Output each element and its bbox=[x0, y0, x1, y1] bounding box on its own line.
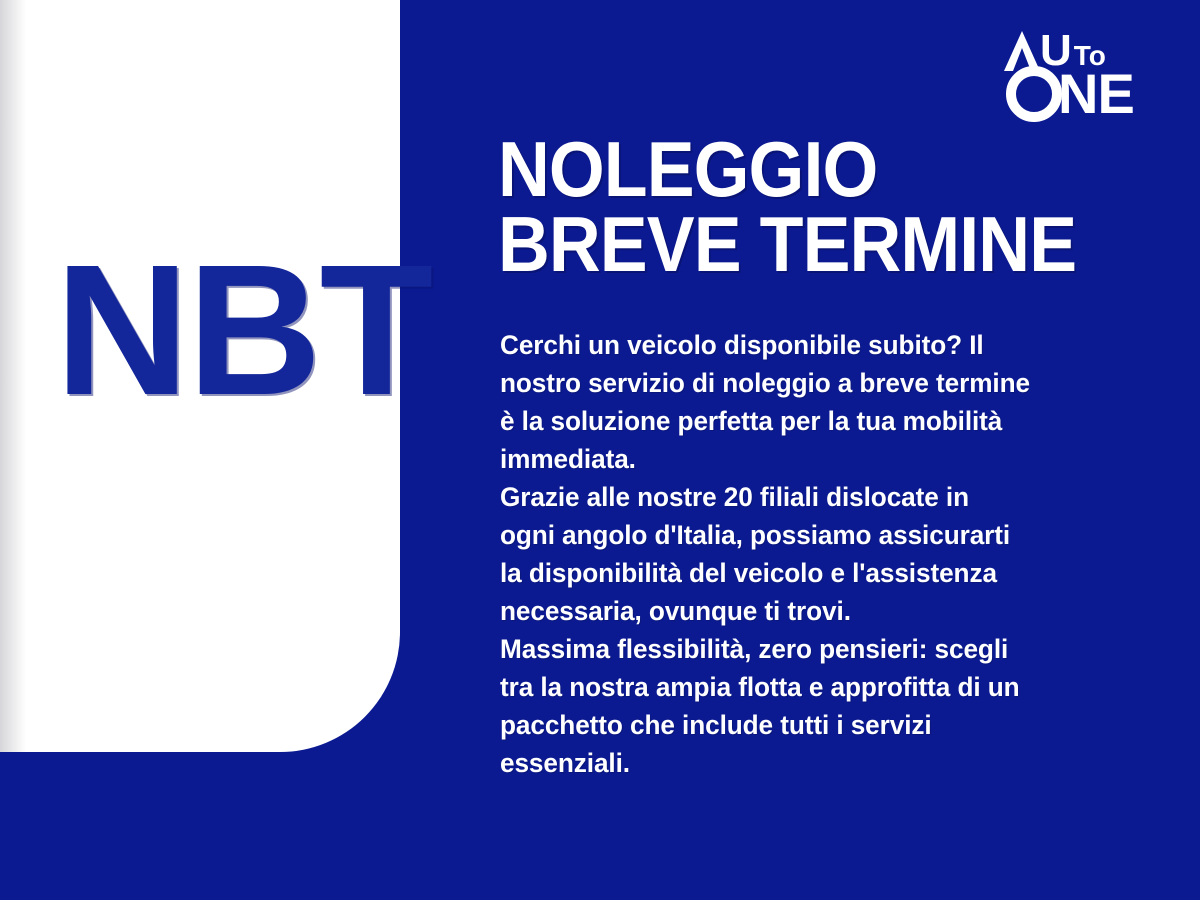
body-line: necessaria, ovunque ti trovi. bbox=[500, 592, 1121, 630]
body-line: Grazie alle nostre 20 filiali dislocate … bbox=[500, 478, 1121, 516]
body-line: ogni angolo d'Italia, possiamo assicurar… bbox=[500, 516, 1121, 554]
body-line: pacchetto che include tutti i servizi bbox=[500, 706, 1121, 744]
body-line: immediata. bbox=[500, 440, 1121, 478]
page-title: NOLEGGIO BREVE TERMINE bbox=[498, 132, 1105, 282]
body-line: la disponibilità del veicolo e l'assiste… bbox=[500, 554, 1121, 592]
body-paragraph-3: Massima flessibilità, zero pensieri: sce… bbox=[500, 630, 1121, 782]
body-paragraph-1: Cerchi un veicolo disponibile subito? Il… bbox=[500, 326, 1121, 478]
body-copy: Cerchi un veicolo disponibile subito? Il… bbox=[500, 326, 1121, 782]
nbt-acronym: NBT bbox=[55, 238, 355, 424]
panel-edge-shadow bbox=[0, 0, 26, 752]
headline-line-1: NOLEGGIO bbox=[498, 132, 1105, 207]
content-column: NOLEGGIO BREVE TERMINE Cerchi un veicolo… bbox=[498, 0, 1158, 900]
body-line: Massima flessibilità, zero pensieri: sce… bbox=[500, 630, 1121, 668]
body-line: Cerchi un veicolo disponibile subito? Il bbox=[500, 326, 1121, 364]
body-line: è la soluzione perfetta per la tua mobil… bbox=[500, 402, 1121, 440]
left-white-panel: NBT bbox=[0, 0, 400, 752]
body-line: tra la nostra ampia flotta e approfitta … bbox=[500, 668, 1121, 706]
promo-poster: NBT U To NE NOLEGGIO BREVE TERMINE bbox=[0, 0, 1200, 900]
body-line: nostro servizio di noleggio a breve term… bbox=[500, 364, 1121, 402]
headline-line-2: BREVE TERMINE bbox=[498, 207, 1105, 282]
body-line: essenziali. bbox=[500, 744, 1121, 782]
body-paragraph-2: Grazie alle nostre 20 filiali dislocate … bbox=[500, 478, 1121, 630]
